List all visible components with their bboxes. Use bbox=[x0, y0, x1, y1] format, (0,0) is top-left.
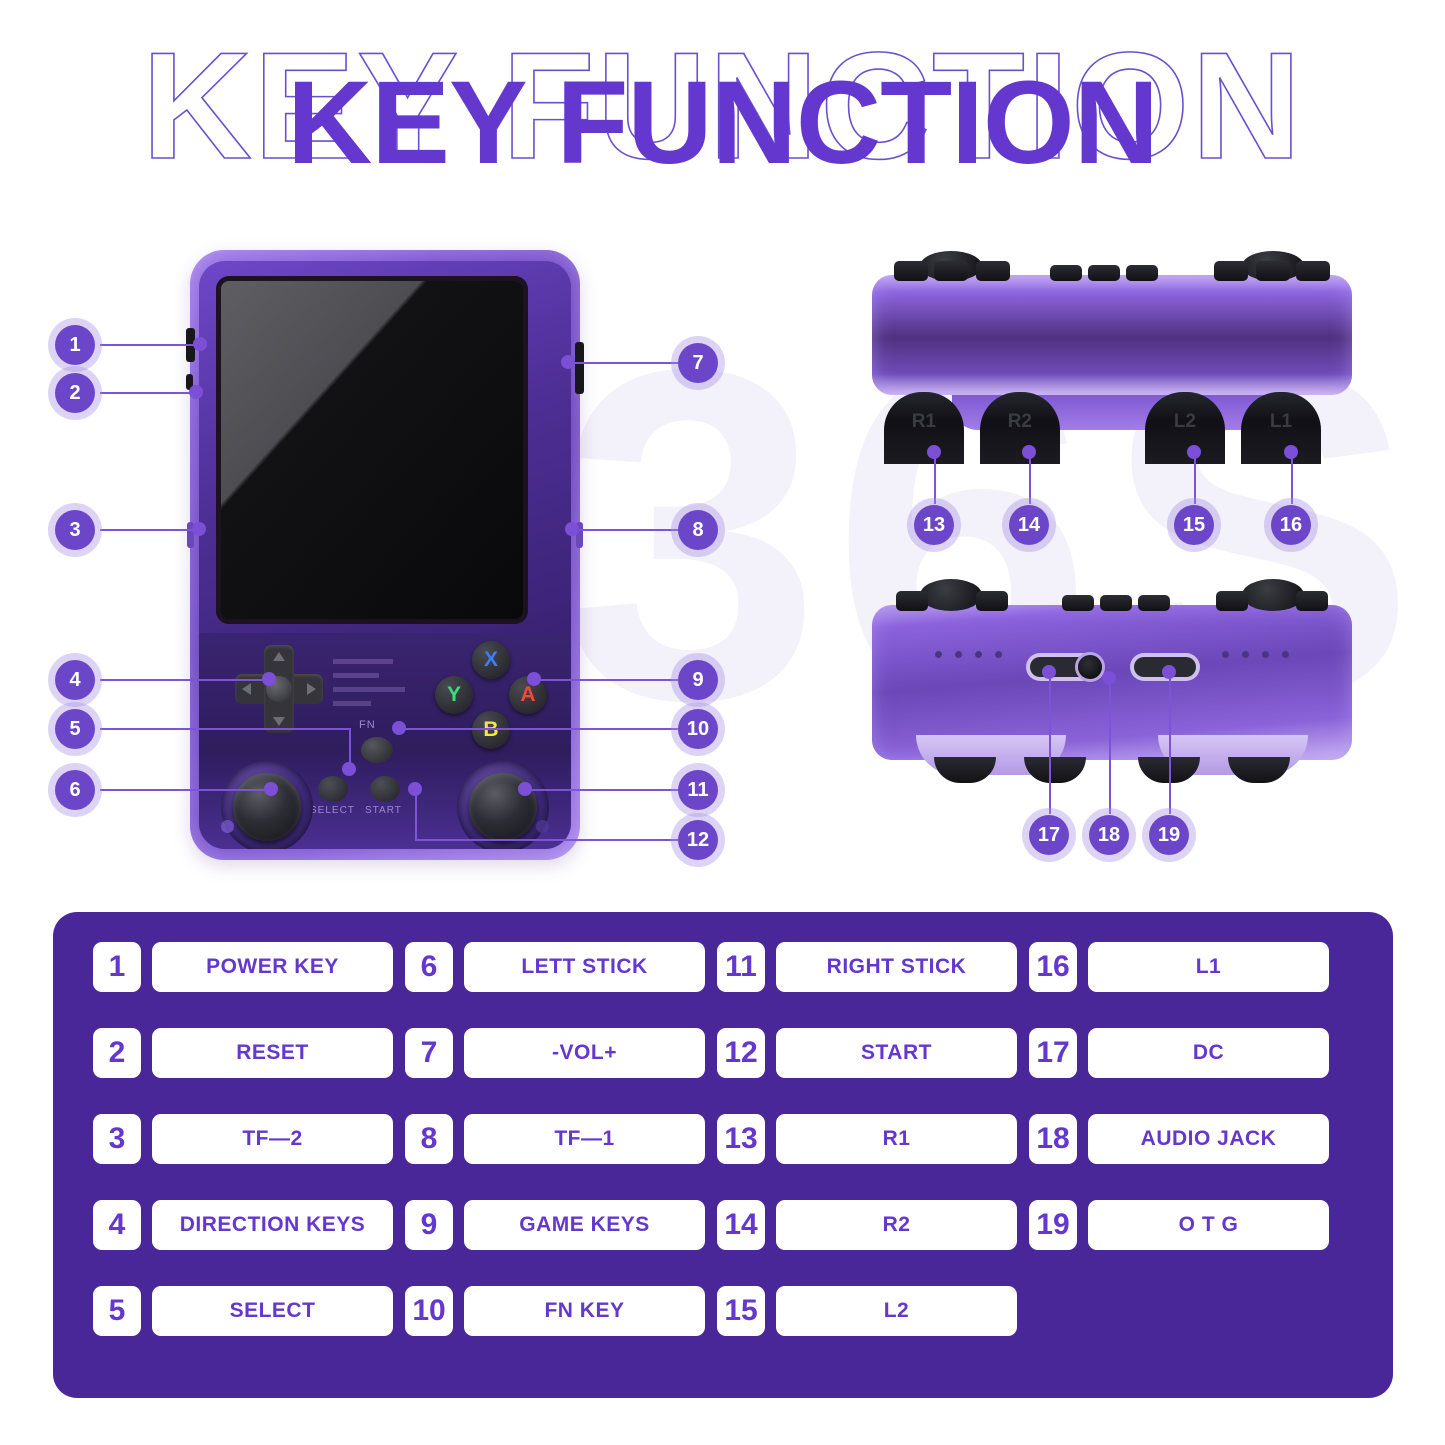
legend-number-16: 16 bbox=[1029, 942, 1077, 992]
legend-number-11: 11 bbox=[717, 942, 765, 992]
legend-column-4: 16L117DC18AUDIO JACK19O T G bbox=[1029, 942, 1329, 1286]
leader-line-8 bbox=[570, 529, 678, 531]
legend-row: 9GAME KEYS bbox=[405, 1200, 705, 1250]
leader-line-4 bbox=[100, 679, 270, 681]
start-label: START bbox=[365, 805, 402, 816]
legend-label-8: TF—1 bbox=[464, 1114, 705, 1164]
legend-row: 16L1 bbox=[1029, 942, 1329, 992]
callout-badge-6[interactable]: 6 bbox=[55, 770, 95, 810]
anchor-dot-9 bbox=[527, 672, 541, 686]
anchor-dot-7 bbox=[561, 355, 575, 369]
bottom-cap-3 bbox=[1062, 595, 1094, 611]
legend-number-9: 9 bbox=[405, 1200, 453, 1250]
legend-number-19: 19 bbox=[1029, 1200, 1077, 1250]
vent-hole-6 bbox=[1262, 651, 1269, 658]
anchor-dot-16 bbox=[1284, 445, 1298, 459]
legend-row: 6LETT STICK bbox=[405, 942, 705, 992]
bottom-cap-7 bbox=[1216, 591, 1248, 611]
bottom-cap-1 bbox=[896, 591, 928, 611]
legend-row: 8TF—1 bbox=[405, 1114, 705, 1164]
legend-number-17: 17 bbox=[1029, 1028, 1077, 1078]
leader-line-19 bbox=[1169, 672, 1171, 814]
legend-number-13: 13 bbox=[717, 1114, 765, 1164]
callout-badge-5[interactable]: 5 bbox=[55, 709, 95, 749]
vent-hole-2 bbox=[955, 651, 962, 658]
top-cap-6 bbox=[1126, 265, 1158, 281]
display-screen bbox=[221, 281, 523, 619]
anchor-dot-19 bbox=[1162, 665, 1176, 679]
button-x[interactable]: X bbox=[472, 641, 510, 679]
legend-number-7: 7 bbox=[405, 1028, 453, 1078]
legend-number-12: 12 bbox=[717, 1028, 765, 1078]
legend-number-2: 2 bbox=[93, 1028, 141, 1078]
leader-line-2 bbox=[100, 392, 196, 394]
legend-row: 14R2 bbox=[717, 1200, 1017, 1250]
callout-badge-8[interactable]: 8 bbox=[678, 510, 718, 550]
legend-number-14: 14 bbox=[717, 1200, 765, 1250]
legend-label-3: TF—2 bbox=[152, 1114, 393, 1164]
anchor-dot-15 bbox=[1187, 445, 1201, 459]
leader-line-16 bbox=[1291, 452, 1293, 504]
callout-badge-2[interactable]: 2 bbox=[55, 373, 95, 413]
select-button[interactable] bbox=[318, 776, 348, 802]
bottom-cap-5 bbox=[1138, 595, 1170, 611]
legend-row: 15L2 bbox=[717, 1286, 1017, 1336]
left-stick[interactable] bbox=[221, 761, 313, 849]
trigger-r2-label: R2 bbox=[1008, 411, 1032, 433]
fn-label: FN bbox=[359, 719, 376, 731]
game-keys[interactable]: X Y A B bbox=[435, 641, 547, 751]
callout-badge-10[interactable]: 10 bbox=[678, 709, 718, 749]
bottom-right-stick bbox=[1242, 579, 1304, 611]
audio-jack-port[interactable] bbox=[1078, 655, 1102, 679]
trigger-l1[interactable]: L1 bbox=[1241, 392, 1321, 464]
anchor-dot-12 bbox=[408, 782, 422, 796]
device-front-view: X Y A B FN SELECT START bbox=[190, 250, 580, 860]
select-label: SELECT bbox=[310, 805, 355, 816]
dpad-right-arrow-icon bbox=[307, 683, 316, 695]
legend-number-8: 8 bbox=[405, 1114, 453, 1164]
bottom-cap-4 bbox=[1100, 595, 1132, 611]
legend-label-10: FN KEY bbox=[464, 1286, 705, 1336]
leader-line-13 bbox=[934, 452, 936, 504]
legend-row: 5SELECT bbox=[93, 1286, 393, 1336]
title-fill-text: KEY FUNCTION bbox=[287, 64, 1158, 182]
callout-badge-11[interactable]: 11 bbox=[678, 770, 718, 810]
callout-badge-9[interactable]: 9 bbox=[678, 660, 718, 700]
status-led bbox=[221, 820, 234, 833]
control-face: X Y A B FN SELECT START bbox=[199, 633, 571, 849]
top-cap-3 bbox=[976, 261, 1010, 281]
vent-hole-1 bbox=[935, 651, 942, 658]
legend-number-15: 15 bbox=[717, 1286, 765, 1336]
legend-label-15: L2 bbox=[776, 1286, 1017, 1336]
leader-line-17 bbox=[1049, 672, 1051, 814]
legend-panel: 1POWER KEY2RESET3TF—24DIRECTION KEYS5SEL… bbox=[53, 912, 1393, 1398]
anchor-dot-11 bbox=[518, 782, 532, 796]
leader-line-18 bbox=[1109, 678, 1111, 814]
leader-line-12a bbox=[415, 790, 417, 840]
dpad-up-arrow-icon bbox=[273, 652, 285, 661]
button-b[interactable]: B bbox=[472, 711, 510, 749]
leader-line-1 bbox=[100, 344, 200, 346]
callout-badge-4[interactable]: 4 bbox=[55, 660, 95, 700]
top-cap-4 bbox=[1050, 265, 1082, 281]
legend-label-13: R1 bbox=[776, 1114, 1017, 1164]
trigger-r1-label: R1 bbox=[912, 411, 936, 433]
page-title: KEY FUNCTION KEY FUNCTION bbox=[0, 22, 1445, 202]
callout-badge-1[interactable]: 1 bbox=[55, 325, 95, 365]
start-button[interactable] bbox=[370, 776, 400, 802]
volume-rocker-side[interactable] bbox=[575, 342, 584, 394]
legend-label-2: RESET bbox=[152, 1028, 393, 1078]
legend-row: 10FN KEY bbox=[405, 1286, 705, 1336]
leader-line-6 bbox=[100, 789, 272, 791]
top-cap-2 bbox=[934, 261, 968, 281]
button-y[interactable]: Y bbox=[435, 676, 473, 714]
callout-badge-17[interactable]: 17 bbox=[1029, 815, 1069, 855]
top-cap-7 bbox=[1296, 261, 1330, 281]
leader-line-5a bbox=[100, 728, 350, 730]
legend-row: 17DC bbox=[1029, 1028, 1329, 1078]
legend-number-1: 1 bbox=[93, 942, 141, 992]
legend-label-7: -VOL+ bbox=[464, 1028, 705, 1078]
leader-line-11 bbox=[524, 789, 678, 791]
trigger-l1-label: L1 bbox=[1270, 411, 1292, 433]
callout-badge-13[interactable]: 13 bbox=[914, 505, 954, 545]
top-cap-9 bbox=[1214, 261, 1248, 281]
top-cap-8 bbox=[1256, 261, 1290, 281]
callout-badge-12[interactable]: 12 bbox=[678, 820, 718, 860]
vent-hole-7 bbox=[1242, 651, 1249, 658]
anchor-dot-14 bbox=[1022, 445, 1036, 459]
legend-number-6: 6 bbox=[405, 942, 453, 992]
top-cap-5 bbox=[1088, 265, 1120, 281]
legend-label-18: AUDIO JACK bbox=[1088, 1114, 1329, 1164]
vent-hole-8 bbox=[1222, 651, 1229, 658]
legend-label-1: POWER KEY bbox=[152, 942, 393, 992]
direction-keys[interactable] bbox=[235, 645, 323, 733]
legend-label-12: START bbox=[776, 1028, 1017, 1078]
anchor-dot-10 bbox=[392, 721, 406, 735]
right-stick[interactable] bbox=[457, 761, 549, 849]
callout-badge-7[interactable]: 7 bbox=[678, 343, 718, 383]
trigger-r2[interactable]: R2 bbox=[980, 392, 1060, 464]
anchor-dot-3 bbox=[192, 522, 206, 536]
anchor-dot-5 bbox=[342, 762, 356, 776]
callout-badge-14[interactable]: 14 bbox=[1009, 505, 1049, 545]
legend-label-17: DC bbox=[1088, 1028, 1329, 1078]
fn-key[interactable] bbox=[361, 737, 393, 763]
leader-line-10 bbox=[398, 728, 678, 730]
dpad-left-arrow-icon bbox=[242, 683, 251, 695]
legend-column-2: 6LETT STICK7-VOL+8TF—19GAME KEYS10FN KEY bbox=[405, 942, 705, 1372]
leader-line-12b bbox=[415, 839, 678, 841]
leader-line-15 bbox=[1194, 452, 1196, 504]
anchor-dot-4 bbox=[262, 672, 276, 686]
legend-row: 19O T G bbox=[1029, 1200, 1329, 1250]
bottom-cap-2 bbox=[976, 591, 1008, 611]
legend-label-5: SELECT bbox=[152, 1286, 393, 1336]
leader-line-9 bbox=[533, 679, 678, 681]
legend-label-6: LETT STICK bbox=[464, 942, 705, 992]
anchor-dot-8 bbox=[565, 522, 579, 536]
legend-row: 7-VOL+ bbox=[405, 1028, 705, 1078]
speaker-hole bbox=[536, 820, 549, 833]
trigger-l2-label: L2 bbox=[1174, 411, 1196, 433]
trigger-l2[interactable]: L2 bbox=[1145, 392, 1225, 464]
legend-number-18: 18 bbox=[1029, 1114, 1077, 1164]
vent-hole-4 bbox=[995, 651, 1002, 658]
anchor-dot-6 bbox=[264, 782, 278, 796]
vent-hole-3 bbox=[975, 651, 982, 658]
legend-number-5: 5 bbox=[93, 1286, 141, 1336]
poster-canvas: 36S KEY FUNCTION KEY FUNCTION bbox=[0, 0, 1445, 1445]
legend-row: 18AUDIO JACK bbox=[1029, 1114, 1329, 1164]
anchor-dot-18 bbox=[1102, 671, 1116, 685]
legend-label-11: RIGHT STICK bbox=[776, 942, 1017, 992]
dpad-down-arrow-icon bbox=[273, 717, 285, 726]
leader-line-3 bbox=[100, 529, 200, 531]
callout-badge-18[interactable]: 18 bbox=[1089, 815, 1129, 855]
legend-label-19: O T G bbox=[1088, 1200, 1329, 1250]
legend-row: 4DIRECTION KEYS bbox=[93, 1200, 393, 1250]
legend-label-16: L1 bbox=[1088, 942, 1329, 992]
legend-number-4: 4 bbox=[93, 1200, 141, 1250]
legend-row: 3TF—2 bbox=[93, 1114, 393, 1164]
legend-label-14: R2 bbox=[776, 1200, 1017, 1250]
bottom-cap-6 bbox=[1296, 591, 1328, 611]
anchor-dot-2 bbox=[189, 385, 203, 399]
legend-number-3: 3 bbox=[93, 1114, 141, 1164]
callout-badge-19[interactable]: 19 bbox=[1149, 815, 1189, 855]
anchor-dot-1 bbox=[193, 337, 207, 351]
callout-badge-15[interactable]: 15 bbox=[1174, 505, 1214, 545]
anchor-dot-13 bbox=[927, 445, 941, 459]
legend-number-10: 10 bbox=[405, 1286, 453, 1336]
front-shell: X Y A B FN SELECT START bbox=[199, 261, 571, 849]
legend-label-4: DIRECTION KEYS bbox=[152, 1200, 393, 1250]
trigger-r1[interactable]: R1 bbox=[884, 392, 964, 464]
anchor-dot-17 bbox=[1042, 665, 1056, 679]
bottom-left-stick bbox=[920, 579, 982, 611]
legend-row: 2RESET bbox=[93, 1028, 393, 1078]
device-top-view bbox=[872, 275, 1352, 395]
legend-column-3: 11RIGHT STICK12START13R114R215L2 bbox=[717, 942, 1017, 1372]
top-cap-1 bbox=[894, 261, 928, 281]
vent-hole-5 bbox=[1282, 651, 1289, 658]
legend-row: 13R1 bbox=[717, 1114, 1017, 1164]
leader-line-14 bbox=[1029, 452, 1031, 504]
callout-badge-16[interactable]: 16 bbox=[1271, 505, 1311, 545]
legend-row: 11RIGHT STICK bbox=[717, 942, 1017, 992]
legend-row: 12START bbox=[717, 1028, 1017, 1078]
leader-line-7 bbox=[566, 362, 678, 364]
legend-row: 1POWER KEY bbox=[93, 942, 393, 992]
legend-column-1: 1POWER KEY2RESET3TF—24DIRECTION KEYS5SEL… bbox=[93, 942, 393, 1372]
legend-label-9: GAME KEYS bbox=[464, 1200, 705, 1250]
callout-badge-3[interactable]: 3 bbox=[55, 510, 95, 550]
